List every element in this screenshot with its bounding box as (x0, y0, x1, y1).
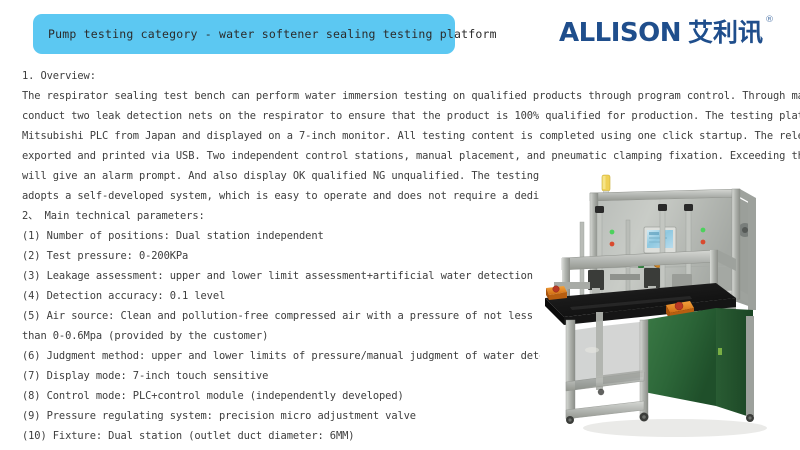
machine-photo (540, 170, 800, 450)
frame-leg (566, 320, 575, 418)
emergency-stop-button (546, 286, 567, 300)
brand-logo: ALLISON 艾利讯 ® (559, 20, 774, 46)
panel-latch (718, 348, 722, 355)
indicator-lamp-red (610, 242, 615, 247)
overview-line: The respirator sealing test bench can pe… (22, 86, 792, 106)
title-banner: Pump testing category - water softener s… (33, 14, 455, 54)
page-header: Pump testing category - water softener s… (0, 0, 800, 68)
frame-leg (746, 316, 754, 416)
logo-chinese-name: 艾利讯 (688, 20, 763, 45)
indicator-lamp-green (701, 228, 706, 233)
overview-line: exported and printed via USB. Two indepe… (22, 146, 792, 166)
indicator-lamp-green (610, 230, 615, 235)
registered-trademark-icon: ® (765, 16, 774, 25)
front-panel-green (644, 308, 716, 406)
overview-heading: 1. Overview: (22, 66, 792, 86)
page-title: Pump testing category - water softener s… (48, 27, 497, 41)
indicator-lamp-red (701, 240, 706, 245)
overview-line: Mitsubishi PLC from Japan and displayed … (22, 126, 792, 146)
logo-wordmark: ALLISON (559, 20, 681, 46)
overview-line: conduct two leak detection nets on the r… (22, 106, 792, 126)
